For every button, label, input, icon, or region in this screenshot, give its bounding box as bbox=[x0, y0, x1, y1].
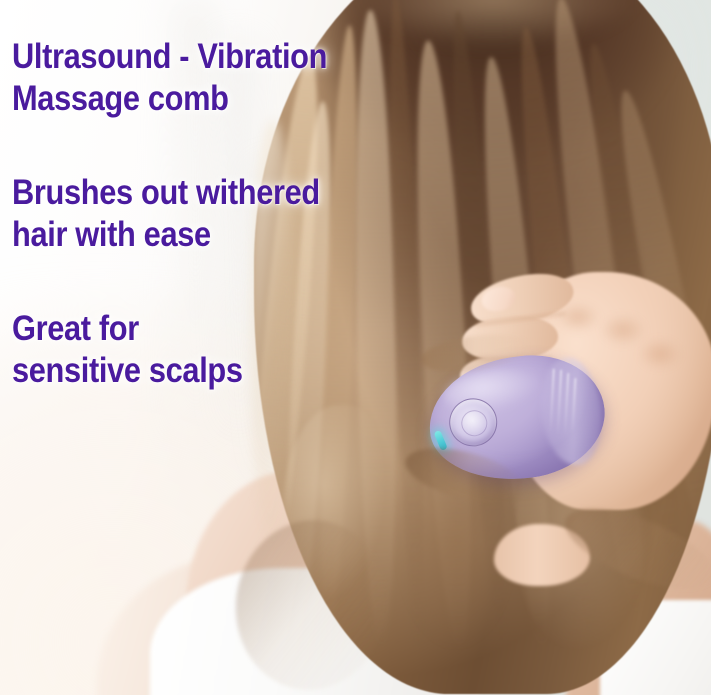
copy-line: Brushes out withered bbox=[12, 172, 329, 214]
copy-block-benefit-brushing: Brushes out withered hair with ease bbox=[12, 172, 372, 256]
copy-line: Massage comb bbox=[12, 78, 329, 120]
knuckle bbox=[600, 314, 646, 346]
copy-block-benefit-scalp: Great for sensitive scalps bbox=[12, 308, 372, 392]
copy-line: Great for bbox=[12, 308, 329, 350]
headline-copy: Ultrasound - Vibration Massage comb Brus… bbox=[12, 36, 372, 392]
product-advertisement-image: Ultrasound - Vibration Massage comb Brus… bbox=[0, 0, 711, 695]
copy-line: Ultrasound - Vibration bbox=[12, 36, 329, 78]
knuckle bbox=[638, 338, 682, 370]
copy-line: hair with ease bbox=[12, 214, 329, 256]
copy-line: sensitive scalps bbox=[12, 350, 329, 392]
copy-block-product-name: Ultrasound - Vibration Massage comb bbox=[12, 36, 372, 120]
fingernail bbox=[479, 284, 517, 315]
